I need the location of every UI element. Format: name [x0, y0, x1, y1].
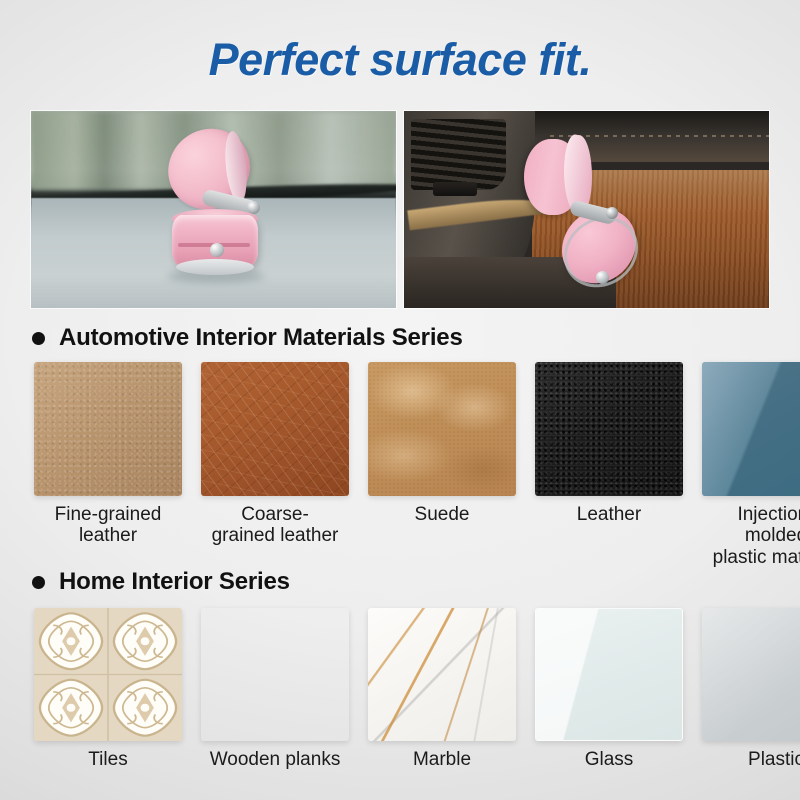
swatch-leather [535, 362, 683, 496]
swatch-row-automotive: Fine-grainedleather Coarse-grained leath… [0, 362, 800, 568]
swatch-cell-leather[interactable]: Leather [529, 362, 689, 568]
photo-mount-on-dashboard [31, 111, 396, 308]
swatch-label: Wooden planks [195, 749, 355, 770]
swatch-cell-glass[interactable]: Glass [529, 608, 689, 770]
swatch-cell-coarse-grained-leather[interactable]: Coarse-grained leather [195, 362, 355, 568]
air-vent [411, 119, 506, 190]
swatch-suede [368, 362, 516, 496]
phone-mount-device [524, 139, 644, 284]
swatch-plastic [702, 608, 800, 741]
swatch-label: Injection-moldedplastic material [696, 504, 800, 568]
swatch-label: Leather [529, 504, 689, 525]
swatch-label: Marble [362, 749, 522, 770]
page-title: Perfect surface fit. [209, 34, 592, 86]
swatch-label: Coarse-grained leather [195, 504, 355, 547]
swatch-label: Glass [529, 749, 689, 770]
swatch-cell-tiles[interactable]: Tiles [28, 608, 188, 770]
base-ball-screw [596, 271, 609, 284]
photo-strip [31, 111, 769, 308]
tile-pattern-icon [34, 608, 182, 741]
swatch-fine-grained-leather [34, 362, 182, 496]
swatch-label: Suede [362, 504, 522, 525]
swatch-cell-marble[interactable]: Marble [362, 608, 522, 770]
suction-foot [176, 259, 254, 275]
base-ball-screw [210, 243, 224, 257]
swatch-tiles [34, 608, 182, 741]
swatch-label: Plastic [696, 749, 800, 770]
swatch-cell-fine-grained-leather[interactable]: Fine-grainedleather [28, 362, 188, 568]
pivot-knob [606, 207, 618, 219]
console-button [433, 182, 477, 196]
page-title-container: Perfect surface fit. [0, 34, 800, 86]
swatch-cell-wooden-planks[interactable]: Wooden planks [195, 608, 355, 770]
product-infographic-page: Perfect surface fit. [0, 0, 800, 800]
swatch-label: Tiles [28, 749, 188, 770]
bullet-dot-icon [32, 576, 45, 589]
swatch-row-home: Tiles Wooden planks Marble Glass Plastic [0, 608, 800, 770]
section-title-home: Home Interior Series [59, 568, 290, 596]
section-header-home: Home Interior Series [32, 568, 290, 596]
photo-mount-on-wood-trim [404, 111, 769, 308]
swatch-cell-suede[interactable]: Suede [362, 362, 522, 568]
swatch-cell-plastic[interactable]: Plastic [696, 608, 800, 770]
phone-mount-device [168, 129, 268, 289]
swatch-marble [368, 608, 516, 741]
section-title-automotive: Automotive Interior Materials Series [59, 324, 463, 352]
bullet-dot-icon [32, 332, 45, 345]
swatch-injection-molded-plastic [702, 362, 800, 496]
swatch-wooden-planks [201, 608, 349, 741]
section-header-automotive: Automotive Interior Materials Series [32, 324, 463, 352]
swatch-label: Fine-grainedleather [28, 504, 188, 547]
swatch-glass [535, 608, 683, 741]
swatch-cell-injection-molded-plastic[interactable]: Injection-moldedplastic material [696, 362, 800, 568]
swatch-coarse-grained-leather [201, 362, 349, 496]
